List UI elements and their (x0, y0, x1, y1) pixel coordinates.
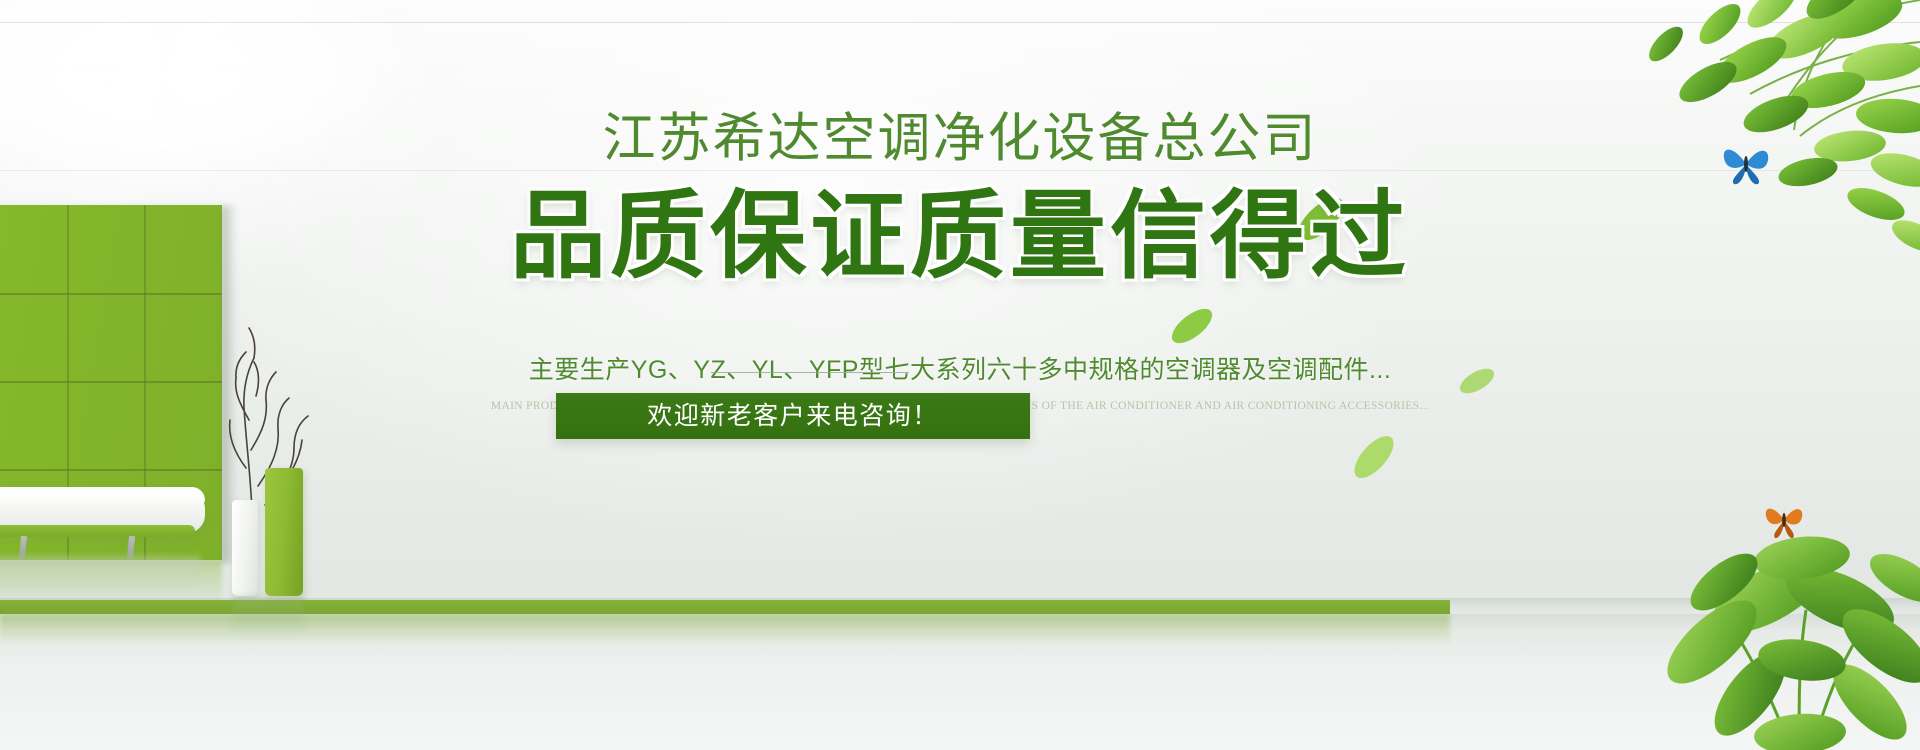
divider-rule (711, 372, 909, 373)
subtitle-chinese: 主要生产YG、YZ、YL、YFP型七大系列六十多中规格的空调器及空调配件... (0, 354, 1920, 386)
contact-cta-button[interactable]: 欢迎新老客户来电咨询！ (556, 393, 1030, 439)
cta-container: 欢迎新老客户来电咨询！ (556, 393, 1030, 439)
headline-slogan: 品质保证质量信得过 (0, 182, 1920, 292)
promo-banner: 江苏希达空调净化设备总公司 品质保证质量信得过 主要生产YG、YZ、YL、YFP… (0, 0, 1920, 750)
company-name: 江苏希达空调净化设备总公司 (0, 108, 1920, 170)
banner-content: 江苏希达空调净化设备总公司 品质保证质量信得过 主要生产YG、YZ、YL、YFP… (0, 0, 1920, 750)
